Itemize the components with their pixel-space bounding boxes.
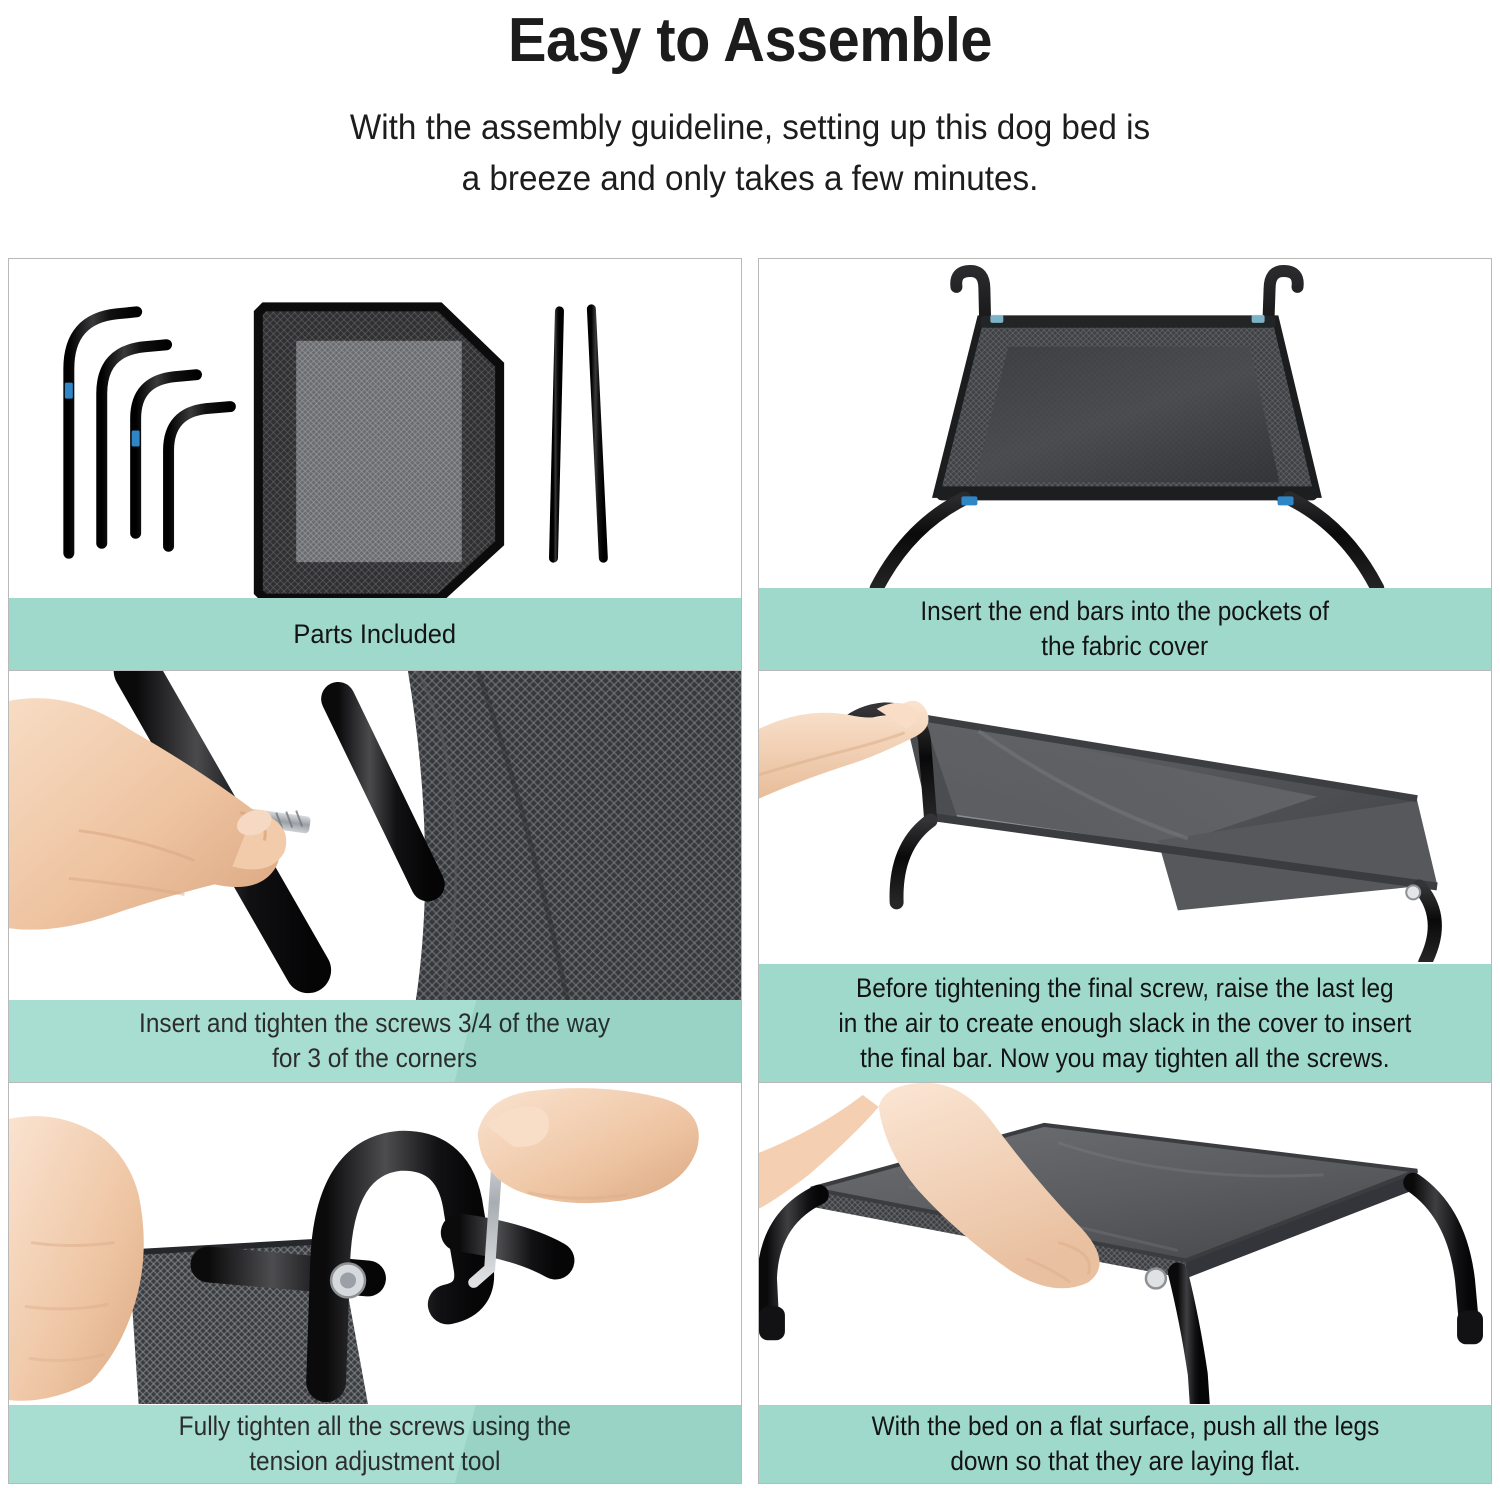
photo-insert-end-bars xyxy=(759,259,1491,588)
hand-left xyxy=(9,1116,144,1401)
panel-tighten-screws: Insert and tighten the screws 3/4 of the… xyxy=(8,670,742,1082)
caption-line-1: Insert the end bars into the pockets of xyxy=(921,594,1330,629)
caption-parts-included: Parts Included xyxy=(9,598,741,670)
caption-line-2: for 3 of the corners xyxy=(139,1041,610,1076)
steps-grid: Parts Included xyxy=(8,258,1492,1484)
page-subtitle: With the assembly guideline, setting up … xyxy=(38,102,1463,204)
caption-text: Insert the end bars into the pockets of … xyxy=(912,594,1338,664)
caption-text: Insert and tighten the screws 3/4 of the… xyxy=(130,1006,621,1076)
caption-line-1: Fully tighten all the screws using the xyxy=(179,1409,571,1444)
caption-line: Parts Included xyxy=(294,617,457,652)
photo-push-legs-flat xyxy=(759,1083,1491,1405)
subtitle-line-1: With the assembly guideline, setting up … xyxy=(38,102,1463,153)
caption-line-2: in the air to create enough slack in the… xyxy=(839,1006,1412,1041)
fabric-cover xyxy=(258,307,499,598)
caption-line-2: down so that they are laying flat. xyxy=(871,1444,1379,1479)
slack-cover xyxy=(905,715,1438,910)
panel-push-legs-flat: With the bed on a flat surface, push all… xyxy=(758,1082,1492,1484)
page-title: Easy to Assemble xyxy=(53,2,1448,80)
hex-key-illustration xyxy=(9,1083,741,1404)
panel-parts-included: Parts Included xyxy=(8,258,742,670)
photo-tighten-screws xyxy=(9,671,741,1000)
caption-insert-end-bars: Insert the end bars into the pockets of … xyxy=(759,588,1491,670)
caption-line-1: Before tightening the final screw, raise… xyxy=(839,971,1412,1006)
caption-fully-tighten: Fully tighten all the screws using the t… xyxy=(9,1405,741,1483)
caption-text: Fully tighten all the screws using the t… xyxy=(171,1409,580,1479)
screw-head xyxy=(1406,885,1420,899)
photo-fully-tighten xyxy=(9,1083,741,1405)
caption-line-2: tension adjustment tool xyxy=(179,1444,571,1479)
parts-illustration xyxy=(9,259,741,598)
panel-raise-last-leg: Before tightening the final screw, raise… xyxy=(758,670,1492,1082)
caption-raise-last-leg: Before tightening the final screw, raise… xyxy=(759,964,1491,1082)
subtitle-line-2: a breeze and only takes a few minutes. xyxy=(38,153,1463,204)
photo-parts-included xyxy=(9,259,741,598)
screw-illustration xyxy=(9,671,741,1000)
hands xyxy=(759,701,929,799)
hand-right xyxy=(478,1088,699,1203)
panel-fully-tighten: Fully tighten all the screws using the t… xyxy=(8,1082,742,1484)
mesh-fabric-closeup xyxy=(408,671,741,1000)
photo-raise-last-leg xyxy=(759,671,1491,964)
insert-bars-illustration xyxy=(759,259,1491,588)
panel-insert-end-bars: Insert the end bars into the pockets of … xyxy=(758,258,1492,670)
screw-head xyxy=(1146,1268,1166,1288)
caption-text: With the bed on a flat surface, push all… xyxy=(861,1409,1390,1479)
finished-bed-illustration xyxy=(759,1083,1491,1404)
foot-cap xyxy=(759,1306,1483,1344)
caption-push-legs-flat: With the bed on a flat surface, push all… xyxy=(759,1405,1491,1483)
raise-leg-illustration xyxy=(759,671,1491,962)
caption-tighten-screws: Insert and tighten the screws 3/4 of the… xyxy=(9,1000,741,1082)
caption-line-3: the final bar. Now you may tighten all t… xyxy=(839,1041,1412,1076)
caption-line-1: Insert and tighten the screws 3/4 of the… xyxy=(139,1006,610,1041)
assembly-infographic: Easy to Assemble With the assembly guide… xyxy=(0,0,1500,1488)
caption-text: Before tightening the final screw, raise… xyxy=(827,971,1424,1076)
header: Easy to Assemble With the assembly guide… xyxy=(0,0,1500,204)
caption-line-2: the fabric cover xyxy=(921,629,1330,664)
bed-fabric xyxy=(937,316,1318,500)
caption-line-1: With the bed on a flat surface, push all… xyxy=(871,1409,1379,1444)
